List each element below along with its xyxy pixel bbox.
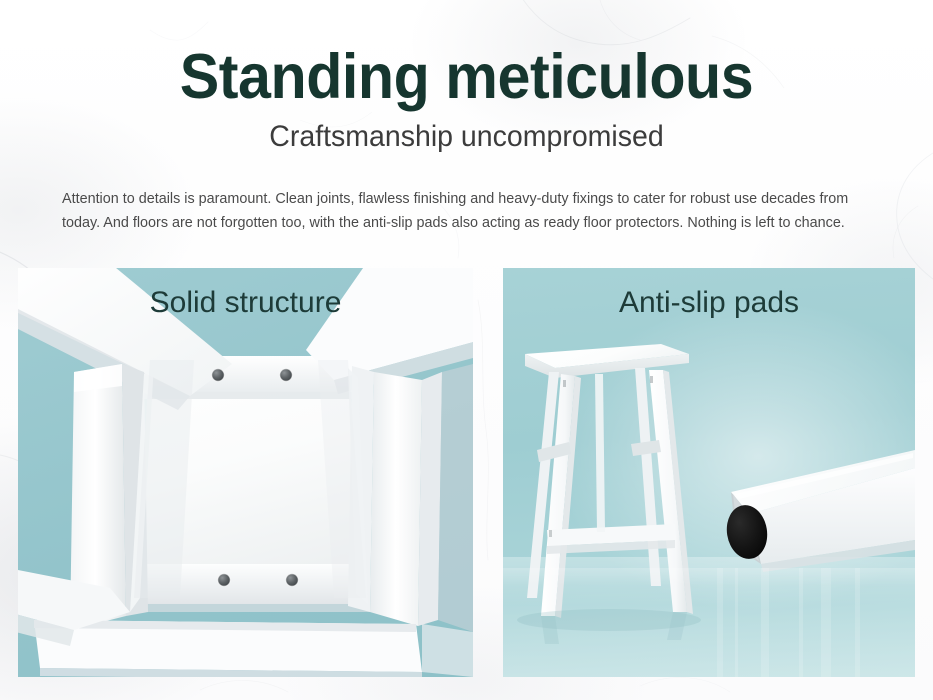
- page-subtitle: Craftsmanship uncompromised: [23, 121, 909, 153]
- header-block: Standing meticulous Craftsmanship uncomp…: [0, 46, 933, 153]
- promo-banner: Standing meticulous Craftsmanship uncomp…: [0, 0, 933, 700]
- page-title: Standing meticulous: [28, 46, 905, 109]
- body-paragraph: Attention to details is paramount. Clean…: [62, 188, 862, 235]
- left-panel-label: Solid structure: [18, 286, 473, 320]
- stool-underside-photo: [18, 268, 473, 677]
- right-panel-label: Anti-slip pads: [503, 286, 915, 320]
- feature-panel-anti-slip-pads: Anti-slip pads: [503, 268, 915, 677]
- feature-panel-solid-structure: Solid structure: [18, 268, 473, 677]
- background-sheen-streaks: [503, 268, 915, 677]
